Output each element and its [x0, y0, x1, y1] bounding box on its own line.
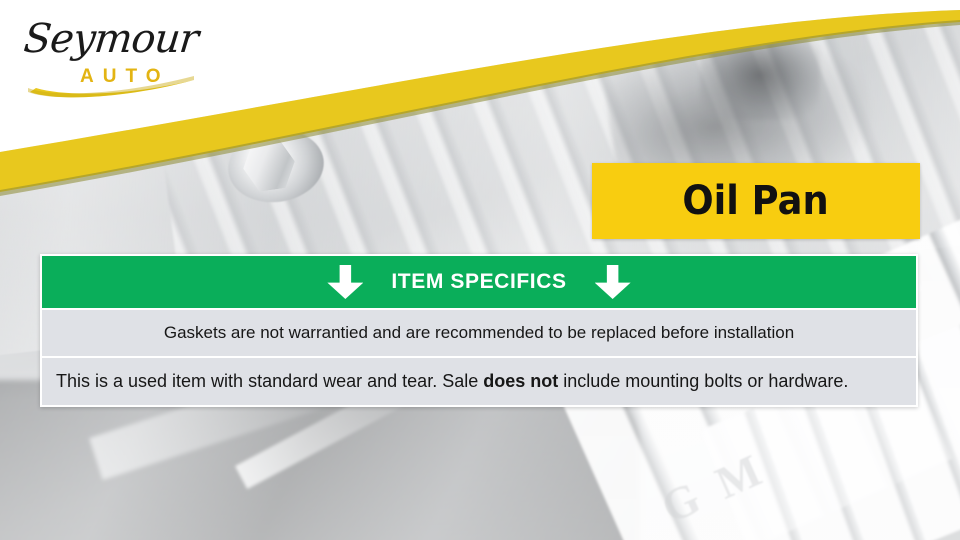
logo-script-text: Seymour	[22, 16, 200, 62]
brand-logo[interactable]: Seymour AUTO	[18, 14, 208, 106]
spec-text-lead: This is a used item with standard wear a…	[56, 371, 483, 391]
arrow-down-icon-left	[327, 265, 363, 299]
spec-text-used-item: This is a used item with standard wear a…	[56, 371, 848, 392]
item-specifics-header: ITEM SPECIFICS	[42, 256, 916, 308]
spec-text-emphasis: does not	[483, 371, 558, 391]
spec-text-tail: include mounting bolts or hardware.	[558, 371, 848, 391]
spec-text-gaskets: Gaskets are not warrantied and are recom…	[164, 323, 794, 343]
slide-canvas: G M Seymour AUTO Oil Pan ITEM SPECIFICS …	[0, 0, 960, 540]
logo-sub-text: AUTO	[80, 66, 169, 88]
arrow-down-icon-right	[595, 265, 631, 299]
table-row: Gaskets are not warrantied and are recom…	[42, 308, 916, 356]
title-plate: Oil Pan	[592, 163, 920, 239]
table-row: This is a used item with standard wear a…	[42, 356, 916, 405]
page-title: Oil Pan	[683, 178, 829, 224]
item-specifics-table: ITEM SPECIFICS Gaskets are not warrantie…	[40, 254, 918, 407]
item-specifics-title: ITEM SPECIFICS	[391, 270, 566, 294]
